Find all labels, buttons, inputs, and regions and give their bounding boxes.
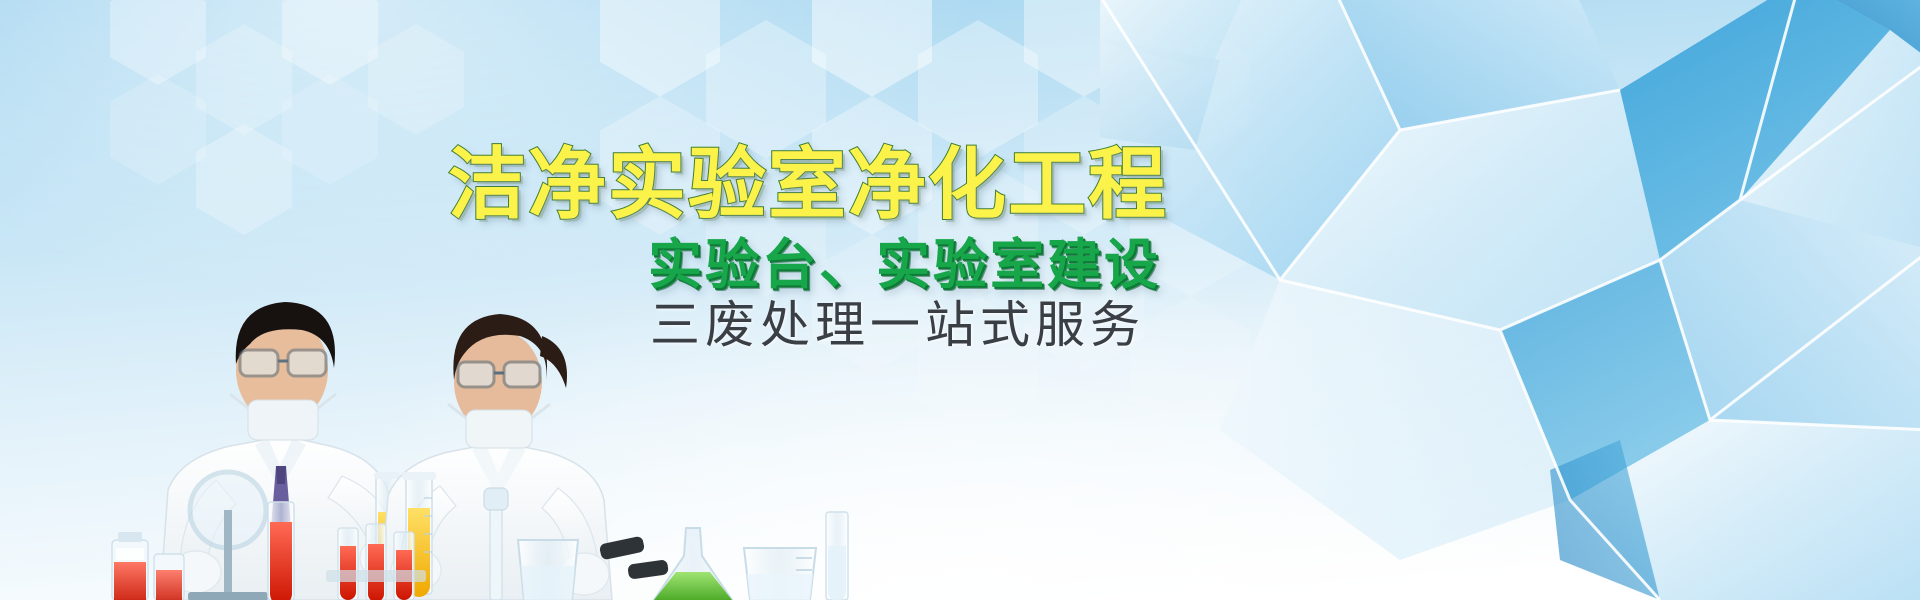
banner-tagline: 三废处理一站式服务 [650, 300, 1145, 350]
promotional-banner: 洁净实验室净化工程 实验台、实验室建设 三废处理一站式服务 [0, 0, 1920, 600]
banner-subline: 实验台、实验室建设 [648, 238, 1161, 292]
headline-block: 洁净实验室净化工程 实验台、实验室建设 三废处理一站式服务 [0, 0, 1920, 600]
banner-headline: 洁净实验室净化工程 [448, 146, 1168, 224]
